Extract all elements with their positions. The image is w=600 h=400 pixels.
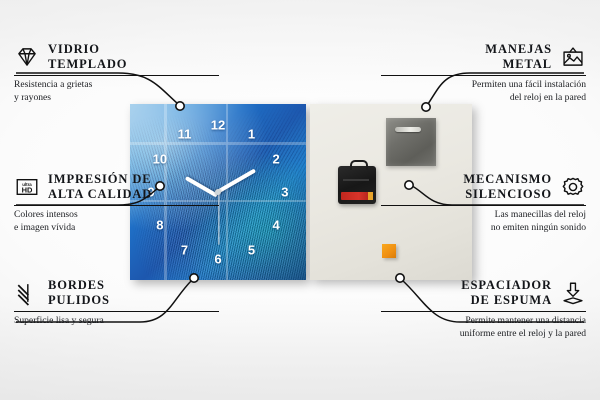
clock-numeral: 5 xyxy=(248,244,255,257)
diamond-icon xyxy=(14,44,40,70)
feature-description: Superficie lisa y segura xyxy=(14,315,219,327)
divider xyxy=(14,311,219,313)
metal-hanger-plate xyxy=(386,118,436,166)
feature-title: VIDRIO TEMPLADO xyxy=(48,42,127,72)
clock-numeral: 10 xyxy=(153,152,167,165)
divider xyxy=(381,75,586,77)
clock-numeral: 12 xyxy=(211,119,225,132)
minute-hand xyxy=(216,169,256,194)
feature-title: IMPRESIÓN DE ALTA CALIDAD xyxy=(48,172,152,202)
movement-adjust-knob xyxy=(368,192,373,200)
clock-numeral: 2 xyxy=(272,152,279,165)
foam-spacer-pad xyxy=(382,244,396,258)
polished-edges-icon xyxy=(14,280,40,306)
clock-numeral: 4 xyxy=(272,219,279,232)
feature-title: BORDES PULIDOS xyxy=(48,278,110,308)
ultra-hd-icon: ultra HD xyxy=(14,174,40,200)
feature-bordes-pulidos: BORDES PULIDOS Superficie lisa y segura xyxy=(14,278,219,328)
feature-description: Permiten una fácil instalación del reloj… xyxy=(381,79,586,104)
divider xyxy=(14,75,219,77)
foam-spacer-arrow-icon xyxy=(560,280,586,306)
feature-description: Permite mantener una distancia uniforme … xyxy=(381,315,586,340)
feature-espaciador-espuma: ESPACIADOR DE ESPUMA Permite mantener un… xyxy=(381,278,586,340)
clock-numeral: 7 xyxy=(181,244,188,257)
feature-title: MANEJAS METAL xyxy=(485,42,552,72)
divider xyxy=(14,205,219,207)
feature-impresion-alta-calidad: ultra HD IMPRESIÓN DE ALTA CALIDAD Color… xyxy=(14,172,219,234)
divider xyxy=(381,311,586,313)
picture-frame-icon xyxy=(560,44,586,70)
feature-description: Colores intensos e imagen vívida xyxy=(14,209,219,234)
svg-text:HD: HD xyxy=(22,185,33,194)
movement-hanger-hook xyxy=(350,160,368,170)
divider xyxy=(381,205,586,207)
clock-numeral: 11 xyxy=(178,127,192,140)
clock-numeral: 3 xyxy=(281,186,288,199)
quartz-movement-box xyxy=(338,166,376,204)
clock-numeral: 6 xyxy=(214,252,221,265)
clock-numeral: 1 xyxy=(248,127,255,140)
feature-title: MECANISMO SILENCIOSO xyxy=(463,172,552,202)
feature-manejas-metal: MANEJAS METAL Permiten una fácil instala… xyxy=(381,42,586,104)
infographic-canvas: 12 1 2 3 4 5 6 7 8 9 10 11 xyxy=(0,0,600,400)
gear-icon xyxy=(560,174,586,200)
feature-vidrio-templado: VIDRIO TEMPLADO Resistencia a grietas y … xyxy=(14,42,219,104)
feature-mecanismo-silencioso: MECANISMO SILENCIOSO Las manecillas del … xyxy=(381,172,586,234)
feature-title: ESPACIADOR DE ESPUMA xyxy=(461,278,552,308)
movement-detail-line xyxy=(343,179,369,181)
feature-description: Las manecillas del reloj no emiten ningú… xyxy=(381,209,586,234)
feature-description: Resistencia a grietas y rayones xyxy=(14,79,219,104)
hanger-keyhole-slot xyxy=(395,127,421,132)
